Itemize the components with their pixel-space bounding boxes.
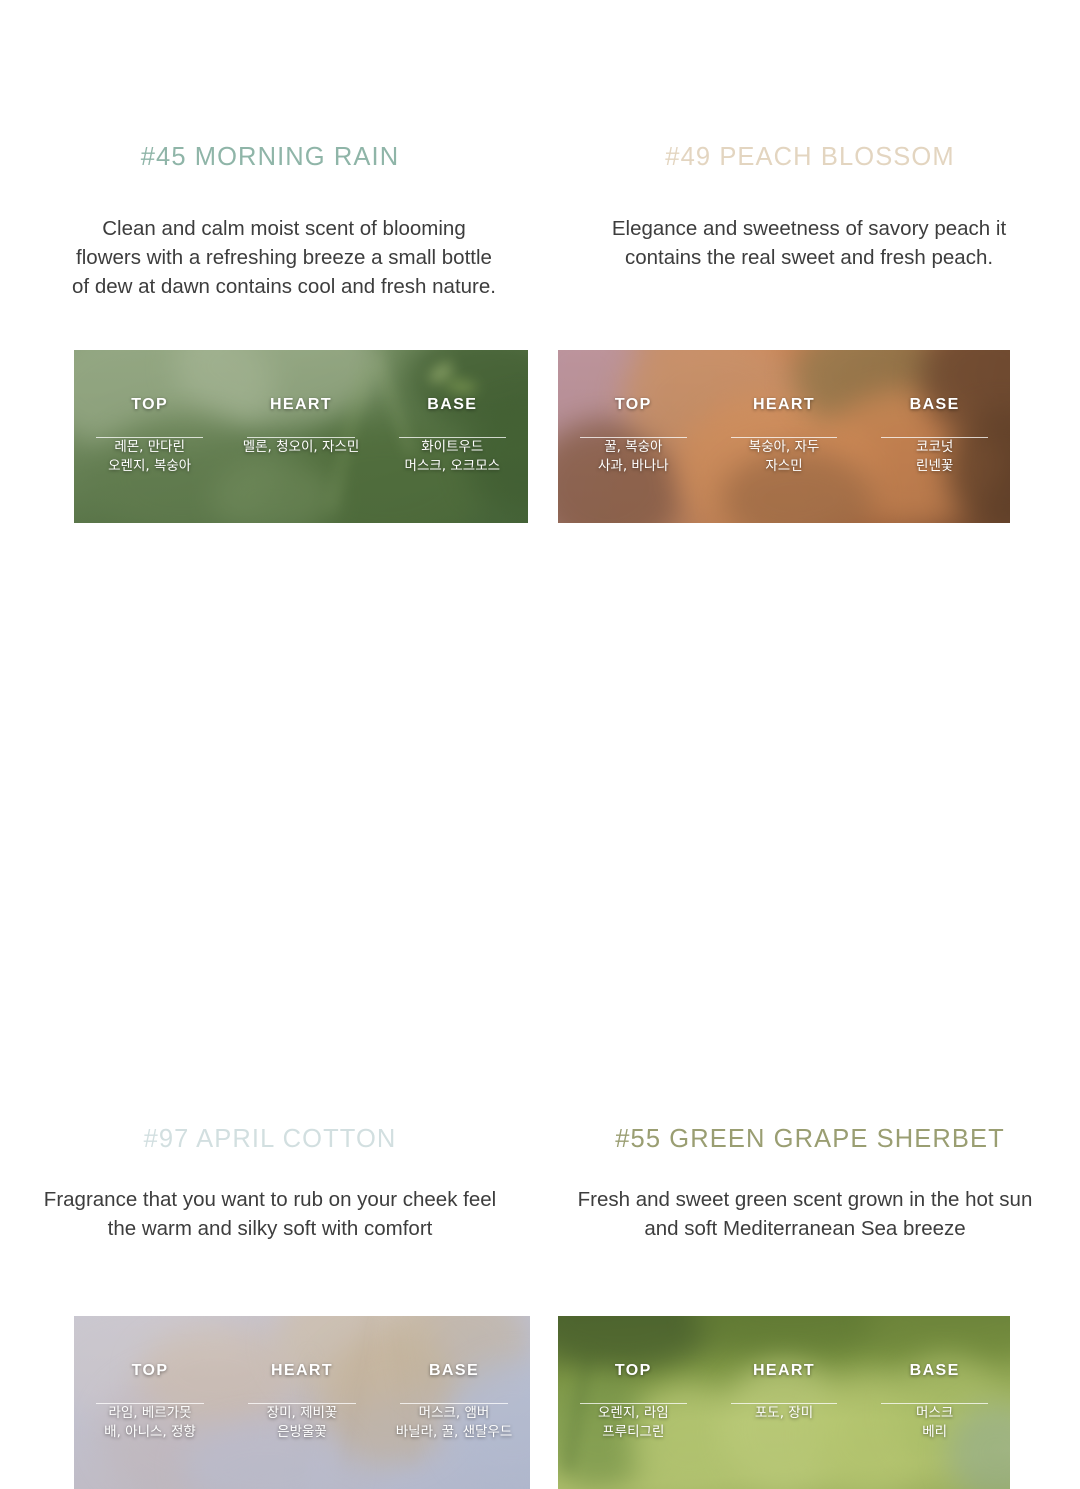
note-column-heart: HEART 복숭아, 자두 자스민 (709, 350, 860, 523)
note-column-heading: TOP (615, 396, 652, 414)
card-description: Elegance and sweetness of savory peach i… (590, 214, 1028, 272)
note-column-value: 멜론, 청오이, 자스민 (243, 438, 360, 457)
note-column-value: 레몬, 만다린 오렌지, 복숭아 (108, 438, 191, 476)
fragrance-card-green-grape-sherbet: #55 GREEN GRAPE SHERBET Fresh and sweet … (540, 540, 1080, 1080)
notes-columns: TOP 꿀, 복숭아 사과, 바나나 HEART 복숭아, 자두 자스민 BAS… (558, 350, 1010, 523)
fragrance-notes-infographic: #45 MORNING RAIN Clean and calm moist sc… (0, 0, 1080, 1080)
fragrance-card-morning-rain: #45 MORNING RAIN Clean and calm moist sc… (0, 0, 540, 540)
note-divider (96, 1403, 204, 1404)
note-divider (96, 437, 203, 438)
note-column-heart: HEART 포도, 장미 (709, 1316, 860, 1489)
note-column-base: BASE 코코넛 린넨꽃 (859, 350, 1010, 523)
note-column-heading: BASE (427, 396, 477, 414)
note-column-heading: HEART (753, 1362, 815, 1380)
note-column-heading: TOP (131, 396, 168, 414)
scent-notes-panel: TOP 레몬, 만다린 오렌지, 복숭아 HEART 멜론, 청오이, 자스민 … (74, 350, 528, 523)
note-divider (580, 437, 687, 438)
note-column-value: 복숭아, 자두 자스민 (749, 438, 820, 476)
note-column-heart: HEART 멜론, 청오이, 자스민 (225, 350, 376, 523)
scent-notes-panel: TOP 오렌지, 라임 프루티그린 HEART 포도, 장미 BASE 머스크 … (558, 1316, 1010, 1489)
notes-columns: TOP 라임, 베르가못 배, 아니스, 정향 HEART 장미, 제비꽃 은방… (74, 1316, 530, 1489)
note-column-value: 오렌지, 라임 프루티그린 (598, 1404, 669, 1442)
scent-notes-panel: TOP 라임, 베르가못 배, 아니스, 정향 HEART 장미, 제비꽃 은방… (74, 1316, 530, 1489)
note-column-value: 장미, 제비꽃 은방울꽃 (267, 1404, 338, 1442)
note-column-value: 화이트우드 머스크, 오크모스 (405, 438, 501, 476)
note-column-value: 머스크 베리 (916, 1404, 953, 1442)
note-column-top: TOP 오렌지, 라임 프루티그린 (558, 1316, 709, 1489)
note-column-base: BASE 화이트우드 머스크, 오크모스 (377, 350, 528, 523)
card-title: #49 PEACH BLOSSOM (540, 143, 1080, 172)
scent-notes-panel: TOP 꿀, 복숭아 사과, 바나나 HEART 복숭아, 자두 자스민 BAS… (558, 350, 1010, 523)
note-divider (881, 1403, 988, 1404)
note-column-heading: BASE (429, 1362, 479, 1380)
card-description: Fresh and sweet green scent grown in the… (570, 1185, 1040, 1243)
note-divider (731, 1403, 838, 1404)
note-divider (580, 1403, 687, 1404)
note-divider (731, 437, 838, 438)
note-column-top: TOP 레몬, 만다린 오렌지, 복숭아 (74, 350, 225, 523)
card-title: #97 APRIL COTTON (0, 1125, 540, 1154)
note-column-heading: HEART (271, 1362, 333, 1380)
note-divider (247, 437, 354, 438)
note-column-heading: HEART (753, 396, 815, 414)
note-divider (881, 437, 988, 438)
note-column-heading: BASE (910, 396, 960, 414)
note-column-top: TOP 라임, 베르가못 배, 아니스, 정향 (74, 1316, 226, 1489)
fragrance-card-peach-blossom: #49 PEACH BLOSSOM Elegance and sweetness… (540, 0, 1080, 540)
note-column-heading: BASE (910, 1362, 960, 1380)
notes-columns: TOP 레몬, 만다린 오렌지, 복숭아 HEART 멜론, 청오이, 자스민 … (74, 350, 528, 523)
note-column-value: 코코넛 린넨꽃 (916, 438, 953, 476)
note-column-base: BASE 머스크 베리 (859, 1316, 1010, 1489)
card-description: Clean and calm moist scent of blooming f… (68, 214, 500, 301)
note-column-value: 라임, 베르가못 배, 아니스, 정향 (104, 1404, 196, 1442)
note-divider (248, 1403, 356, 1404)
card-title: #45 MORNING RAIN (0, 143, 540, 172)
note-column-value: 머스크, 앰버 바닐라, 꿀, 샌달우드 (396, 1404, 513, 1442)
fragrance-card-april-cotton: #97 APRIL COTTON Fragrance that you want… (0, 540, 540, 1080)
note-column-base: BASE 머스크, 앰버 바닐라, 꿀, 샌달우드 (378, 1316, 530, 1489)
note-column-top: TOP 꿀, 복숭아 사과, 바나나 (558, 350, 709, 523)
note-column-heading: TOP (132, 1362, 169, 1380)
note-column-heart: HEART 장미, 제비꽃 은방울꽃 (226, 1316, 378, 1489)
card-grid: #45 MORNING RAIN Clean and calm moist sc… (0, 0, 1080, 1080)
note-column-heading: HEART (270, 396, 332, 414)
notes-columns: TOP 오렌지, 라임 프루티그린 HEART 포도, 장미 BASE 머스크 … (558, 1316, 1010, 1489)
note-column-value: 꿀, 복숭아 사과, 바나나 (598, 438, 669, 476)
note-divider (399, 437, 506, 438)
note-column-heading: TOP (615, 1362, 652, 1380)
card-description: Fragrance that you want to rub on your c… (42, 1185, 498, 1243)
note-divider (400, 1403, 508, 1404)
note-column-value: 포도, 장미 (755, 1404, 813, 1423)
card-title: #55 GREEN GRAPE SHERBET (540, 1125, 1080, 1154)
